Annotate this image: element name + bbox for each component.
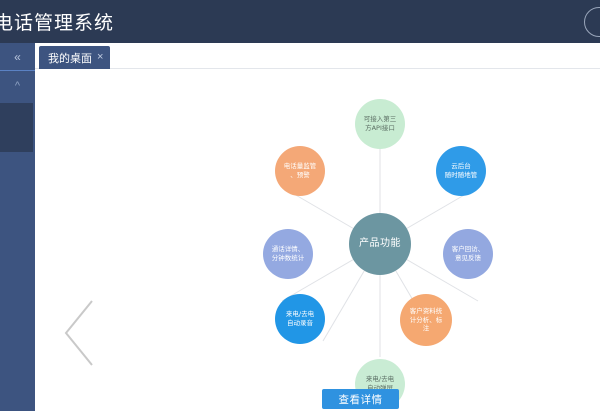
tab-label: 我的桌面: [48, 50, 92, 66]
diagram-node-call-volume-alert[interactable]: 电话量监管 、预警: [275, 146, 325, 196]
diagram-node-cloud-backend[interactable]: 云后台 随时随地管: [436, 146, 486, 196]
chevron-left-icon[interactable]: [60, 297, 98, 369]
diagram-node-center[interactable]: 产品功能: [349, 213, 411, 275]
diagram-node-customer-analytics[interactable]: 客户资料统 计分析、标 注: [400, 294, 452, 346]
app-header: 电话管理系统: [0, 0, 600, 43]
header-actions: [584, 7, 600, 37]
view-details-button[interactable]: 查看详情: [322, 389, 399, 409]
sidebar-collapse-icon[interactable]: «: [0, 43, 35, 71]
product-features-diagram: 产品功能 可接入第三 方API接口 云后台 随时随地管 客户回访、 意见反馈 客…: [215, 79, 545, 409]
diagram-node-auto-recording[interactable]: 来电/去电 自动录音: [275, 294, 325, 344]
chevron-up-icon[interactable]: ^: [0, 71, 35, 101]
app-title: 电话管理系统: [0, 8, 114, 35]
user-avatar-circle-icon[interactable]: [584, 7, 600, 37]
tab-my-desktop[interactable]: 我的桌面 ×: [39, 46, 110, 69]
sidebar-rail: « ^: [0, 43, 35, 411]
app-window: 电话管理系统 « ^ 我的桌面 ×: [0, 0, 600, 411]
close-icon[interactable]: ×: [97, 52, 103, 63]
diagram-node-call-details[interactable]: 通话详情、 分钟数统计: [263, 229, 313, 279]
content-canvas: 产品功能 可接入第三 方API接口 云后台 随时随地管 客户回访、 意见反馈 客…: [35, 69, 600, 411]
sidebar-item-active[interactable]: [0, 103, 33, 152]
diagram-node-api[interactable]: 可接入第三 方API接口: [355, 99, 405, 149]
tab-bar: 我的桌面 ×: [35, 43, 600, 69]
diagram-node-customer-callback[interactable]: 客户回访、 意见反馈: [443, 229, 493, 279]
